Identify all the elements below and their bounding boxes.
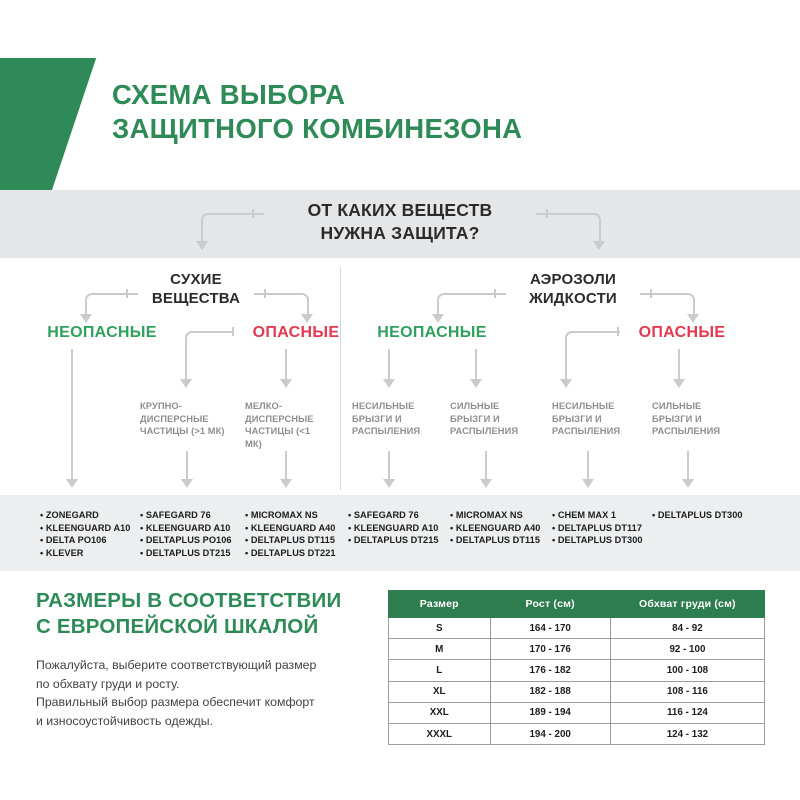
sizes-title: РАЗМЕРЫ В СООТВЕТСТВИИ С ЕВРОПЕЙСКОЙ ШКА…: [36, 588, 376, 640]
product-item: DELTAPLUS DT300: [652, 509, 743, 522]
conn-aero-danger-elbow: [565, 331, 620, 383]
title-line-1: СХЕМА ВЫБОРА: [112, 78, 752, 112]
product-item: DELTAPLUS DT215: [348, 534, 439, 547]
conn-aero-danger2-arrow: [673, 379, 685, 388]
conn-aero-safe2-line: [475, 349, 477, 381]
table-row: XL 182 - 188 108 - 116: [389, 681, 765, 702]
conn-fine-arrow: [280, 479, 292, 488]
conn-aero-danger-arrow: [560, 379, 572, 388]
conn-dry-right-arrow: [301, 314, 313, 323]
sizes-title-line-1: РАЗМЕРЫ В СООТВЕТСТВИИ: [36, 588, 376, 614]
height-cell: 189 - 194: [490, 702, 610, 723]
product-item: MICROMAX NS: [450, 509, 540, 522]
conn-dry-left-arrow: [80, 314, 92, 323]
conn-dry-danger2-arrow: [280, 379, 292, 388]
conn-aero-danger2-line: [678, 349, 680, 381]
sizes-note-line-3: Правильный выбор размера обеспечит комфо…: [36, 693, 366, 712]
product-item: DELTAPLUS DT115: [450, 534, 540, 547]
product-item: DELTAPLUS DT300: [552, 534, 643, 547]
connector-root-left-arrow: [196, 241, 208, 250]
page-title: СХЕМА ВЫБОРА ЗАЩИТНОГО КОМБИНЕЗОНА: [112, 78, 752, 146]
product-item: DELTA PO106: [40, 534, 130, 547]
height-cell: 182 - 188: [490, 681, 610, 702]
sizes-note-line-1: Пожалуйста, выберите соответствующий раз…: [36, 656, 366, 675]
conn-d5-line: [587, 451, 589, 481]
root-question-line-1: ОТ КАКИХ ВЕЩЕСТВ: [0, 199, 800, 222]
desc-light-spray-danger: НЕСИЛЬНЫЕ БРЫЗГИ И РАСПЫЛЕНИЯ: [552, 400, 630, 438]
question-band: ОТ КАКИХ ВЕЩЕСТВ НУЖНА ЗАЩИТА?: [0, 190, 800, 258]
conn-d3-line: [388, 451, 390, 481]
height-cell: 176 - 182: [490, 660, 610, 681]
branch-aerosols-liquids: АЭРОЗОЛИ ЖИДКОСТИ: [508, 270, 638, 308]
size-table-header-cell: Размер: [389, 591, 491, 618]
product-column-2: SAFEGARD 76 KLEENGUARD A10 DELTAPLUS PO1…: [140, 509, 232, 559]
table-row: S 164 - 170 84 - 92: [389, 618, 765, 639]
product-item: KLEENGUARD A40: [450, 522, 540, 535]
product-item: DELTAPLUS PO106: [140, 534, 232, 547]
height-cell: 170 - 176: [490, 639, 610, 660]
conn-coarse-arrow: [181, 479, 193, 488]
conn-d6-arrow: [682, 479, 694, 488]
product-item: KLEVER: [40, 547, 130, 560]
table-row: XXXL 194 - 200 124 - 132: [389, 723, 765, 744]
title-line-2: ЗАЩИТНОГО КОМБИНЕЗОНА: [112, 112, 752, 146]
table-row: XXL 189 - 194 116 - 124: [389, 702, 765, 723]
sizes-note-line-2: по обхвату груди и росту.: [36, 675, 366, 694]
size-table-header-row: Размер Рост (см) Обхват груди (см): [389, 591, 765, 618]
conn-coarse-line: [186, 451, 188, 481]
conn-dry-safe-arrow: [66, 479, 78, 488]
branch-dry-substances: СУХИЕ ВЕЩЕСТВА: [140, 270, 252, 308]
level-dry-safe: НЕОПАСНЫЕ: [36, 324, 168, 342]
product-item: SAFEGARD 76: [348, 509, 439, 522]
product-column-5: MICROMAX NS KLEENGUARD A40 DELTAPLUS DT1…: [450, 509, 540, 547]
conn-d4-line: [485, 451, 487, 481]
chest-cell: 116 - 124: [610, 702, 764, 723]
product-item: DELTAPLUS DT115: [245, 534, 336, 547]
desc-fine-particles: МЕЛКО-ДИСПЕРСНЫЕ ЧАСТИЦЫ (<1 МК): [245, 400, 325, 450]
conn-dry-danger-elbow: [185, 331, 226, 383]
conn-aero-left-elbow: [437, 293, 497, 318]
conn-aero-left-arrow: [432, 314, 444, 323]
product-item: DELTAPLUS DT117: [552, 522, 643, 535]
conn-d5-arrow: [582, 479, 594, 488]
root-question-line-2: НУЖНА ЗАЩИТА?: [0, 222, 800, 245]
size-table-header-cell: Обхват груди (см): [610, 591, 764, 618]
product-item: KLEENGUARD A10: [140, 522, 232, 535]
desc-coarse-particles: КРУПНО-ДИСПЕРСНЫЕ ЧАСТИЦЫ (>1 МК): [140, 400, 236, 438]
table-row: M 170 - 176 92 - 100: [389, 639, 765, 660]
product-item: KLEENGUARD A40: [245, 522, 336, 535]
size-table: Размер Рост (см) Обхват груди (см) S 164…: [388, 590, 765, 745]
product-column-6: CHEM MAX 1 DELTAPLUS DT117 DELTAPLUS DT3…: [552, 509, 643, 547]
chest-cell: 108 - 116: [610, 681, 764, 702]
chest-cell: 92 - 100: [610, 639, 764, 660]
conn-aero-safe1-line: [388, 349, 390, 381]
size-table-header-cell: Рост (см): [490, 591, 610, 618]
conn-dry-safe-line: [71, 349, 73, 481]
sizes-note: Пожалуйста, выберите соответствующий раз…: [36, 656, 366, 730]
conn-aero-right-arrow: [687, 314, 699, 323]
desc-heavy-spray-danger: СИЛЬНЫЕ БРЫЗГИ И РАСПЫЛЕНИЯ: [652, 400, 730, 438]
branch-divider: [340, 268, 341, 490]
branch-dry-line-2: ВЕЩЕСТВА: [140, 289, 252, 308]
branch-aerosol-line-1: АЭРОЗОЛИ: [508, 270, 638, 289]
size-cell: L: [389, 660, 491, 681]
level-aero-safe: НЕОПАСНЫЕ: [366, 324, 498, 342]
height-cell: 194 - 200: [490, 723, 610, 744]
product-item: KLEENGUARD A10: [40, 522, 130, 535]
conn-aero-safe1-arrow: [383, 379, 395, 388]
infographic-page: СХЕМА ВЫБОРА ЗАЩИТНОГО КОМБИНЕЗОНА ОТ КА…: [0, 0, 800, 800]
conn-fine-line: [285, 451, 287, 481]
branch-aerosol-line-2: ЖИДКОСТИ: [508, 289, 638, 308]
size-cell: XXXL: [389, 723, 491, 744]
brand-wedge-shape: [0, 58, 130, 190]
product-item: SAFEGARD 76: [140, 509, 232, 522]
chest-cell: 84 - 92: [610, 618, 764, 639]
sizes-title-line-2: С ЕВРОПЕЙСКОЙ ШКАЛОЙ: [36, 614, 376, 640]
size-cell: XL: [389, 681, 491, 702]
conn-aero-safe2-arrow: [470, 379, 482, 388]
chest-cell: 100 - 108: [610, 660, 764, 681]
product-column-3: MICROMAX NS KLEENGUARD A40 DELTAPLUS DT1…: [245, 509, 336, 559]
product-item: KLEENGUARD A10: [348, 522, 439, 535]
product-column-1: ZONEGARD KLEENGUARD A10 DELTA PO106 KLEV…: [40, 509, 130, 559]
conn-d3-arrow: [383, 479, 395, 488]
connector-root-left-elbow: [201, 213, 255, 245]
product-item: MICROMAX NS: [245, 509, 336, 522]
level-dry-danger: ОПАСНЫЕ: [240, 324, 352, 342]
conn-dry-danger-cap: [232, 327, 234, 336]
product-column-4: SAFEGARD 76 KLEENGUARD A10 DELTAPLUS DT2…: [348, 509, 439, 547]
conn-dry-danger-arrow: [180, 379, 192, 388]
desc-light-spray-safe: НЕСИЛЬНЫЕ БРЫЗГИ И РАСПЫЛЕНИЯ: [352, 400, 430, 438]
level-aero-danger: ОПАСНЫЕ: [626, 324, 738, 342]
size-cell: M: [389, 639, 491, 660]
header: СХЕМА ВЫБОРА ЗАЩИТНОГО КОМБИНЕЗОНА: [0, 0, 800, 190]
conn-dry-danger2-line: [285, 349, 287, 381]
root-question: ОТ КАКИХ ВЕЩЕСТВ НУЖНА ЗАЩИТА?: [0, 199, 800, 245]
product-column-7: DELTAPLUS DT300: [652, 509, 743, 522]
conn-d4-arrow: [480, 479, 492, 488]
connector-root-right-arrow: [593, 241, 605, 250]
size-cell: S: [389, 618, 491, 639]
sizes-note-line-4: и износоустойчивость одежды.: [36, 712, 366, 731]
table-row: L 176 - 182 100 - 108: [389, 660, 765, 681]
chest-cell: 124 - 132: [610, 723, 764, 744]
product-item: DELTAPLUS DT221: [245, 547, 336, 560]
product-item: CHEM MAX 1: [552, 509, 643, 522]
size-cell: XXL: [389, 702, 491, 723]
desc-heavy-spray-safe: СИЛЬНЫЕ БРЫЗГИ И РАСПЫЛЕНИЯ: [450, 400, 528, 438]
height-cell: 164 - 170: [490, 618, 610, 639]
conn-d6-line: [687, 451, 689, 481]
branch-dry-line-1: СУХИЕ: [140, 270, 252, 289]
product-item: ZONEGARD: [40, 509, 130, 522]
product-item: DELTAPLUS DT215: [140, 547, 232, 560]
